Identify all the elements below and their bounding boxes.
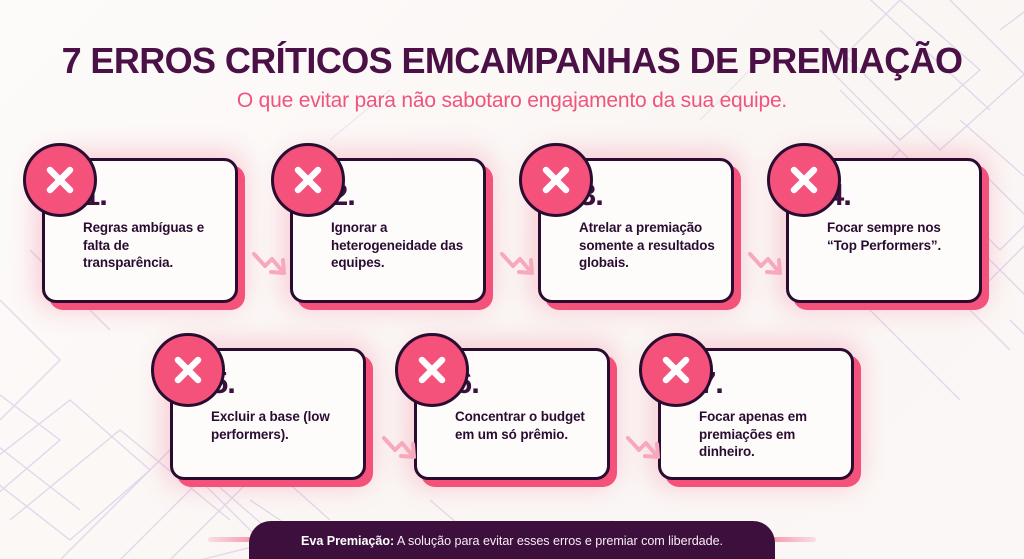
error-card-1[interactable]: 1. Regras ambíguas e falta de transparên… [42, 158, 238, 303]
zigzag-arrow-down-right-icon [746, 246, 792, 288]
card-number: 1. [83, 179, 221, 210]
card-number: 4. [827, 179, 965, 210]
page-title: 7 ERROS CRÍTICOS EMCAMPANHAS DE PREMIAÇÃ… [0, 42, 1024, 80]
error-card-4[interactable]: 4. Focar sempre nos “Top Performers”. [786, 158, 982, 303]
card-slot: 6. Concentrar o budget em um só prêmio. [414, 348, 610, 480]
footer-message: A solução para evitar esses erros e prem… [394, 534, 723, 548]
zigzag-arrow-down-right-icon [380, 430, 426, 472]
x-mark-icon [639, 333, 713, 407]
header: 7 ERROS CRÍTICOS EMCAMPANHAS DE PREMIAÇÃ… [0, 42, 1024, 113]
x-mark-icon [395, 333, 469, 407]
error-card-2[interactable]: 2. Ignorar a heterogeneidade das equipes… [290, 158, 486, 303]
card-number: 2. [331, 179, 469, 210]
card-text: Excluir a base (low performers). [211, 408, 349, 443]
card-number: 7. [699, 367, 837, 398]
x-mark-icon [519, 143, 593, 217]
error-card-3[interactable]: 3. Atrelar a premiação somente a resulta… [538, 158, 734, 303]
footer-brand: Eva Premiação: [301, 534, 394, 548]
card-text: Atrelar a premiação somente a resultados… [579, 219, 717, 272]
card-text: Focar sempre nos “Top Performers”. [827, 219, 965, 254]
card-slot: 2. Ignorar a heterogeneidade das equipes… [290, 158, 486, 303]
x-mark-icon [271, 143, 345, 217]
error-card-6[interactable]: 6. Concentrar o budget em um só prêmio. [414, 348, 610, 480]
card-text: Regras ambíguas e falta de transparência… [83, 219, 221, 272]
footer-text: Eva Premiação: A solução para evitar ess… [301, 534, 723, 548]
x-mark-icon [151, 333, 225, 407]
zigzag-arrow-down-right-icon [250, 246, 296, 288]
footer: Eva Premiação: A solução para evitar ess… [0, 499, 1024, 559]
card-number: 3. [579, 179, 717, 210]
card-slot: 1. Regras ambíguas e falta de transparên… [42, 158, 238, 303]
card-slot: 3. Atrelar a premiação somente a resulta… [538, 158, 734, 303]
card-slot: 5. Excluir a base (low performers). [170, 348, 366, 480]
error-card-7[interactable]: 7. Focar apenas em premiações em dinheir… [658, 348, 854, 480]
card-text: Ignorar a heterogeneidade das equipes. [331, 219, 469, 272]
zigzag-arrow-down-right-icon [624, 430, 670, 472]
zigzag-arrow-down-right-icon [498, 246, 544, 288]
page-subtitle: O que evitar para não sabotaro engajamen… [0, 89, 1024, 113]
card-number: 5. [211, 367, 349, 398]
card-text: Focar apenas em premiações em dinheiro. [699, 408, 837, 461]
footer-banner: Eva Premiação: A solução para evitar ess… [249, 521, 775, 559]
card-slot: 7. Focar apenas em premiações em dinheir… [658, 348, 854, 480]
card-row-2: 5. Excluir a base (low performers). 6. C… [170, 348, 854, 480]
infographic-canvas: 7 ERROS CRÍTICOS EMCAMPANHAS DE PREMIAÇÃ… [0, 0, 1024, 559]
card-text: Concentrar o budget em um só prêmio. [455, 408, 593, 443]
card-row-1: 1. Regras ambíguas e falta de transparên… [42, 158, 982, 303]
x-mark-icon [767, 143, 841, 217]
card-number: 6. [455, 367, 593, 398]
x-mark-icon [23, 143, 97, 217]
error-card-5[interactable]: 5. Excluir a base (low performers). [170, 348, 366, 480]
card-slot: 4. Focar sempre nos “Top Performers”. [786, 158, 982, 303]
